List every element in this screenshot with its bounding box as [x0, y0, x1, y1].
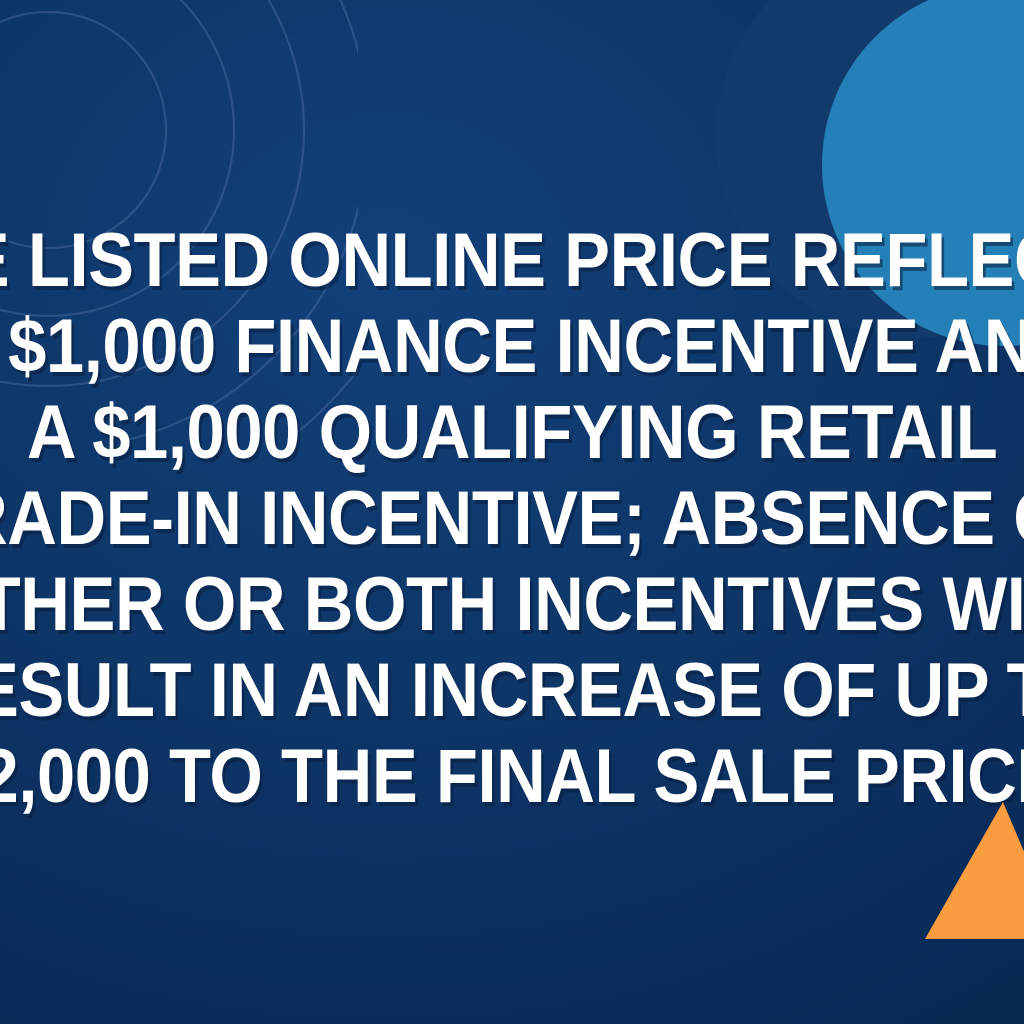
headline-line-5: EITHER OR BOTH INCENTIVES WILL	[0, 562, 1024, 648]
triangle-icon	[921, 800, 1024, 939]
headline-block: THE LISTED ONLINE PRICE REFLECTS A $1,00…	[0, 0, 1024, 1024]
headline-line-1: THE LISTED ONLINE PRICE REFLECTS	[0, 218, 1024, 304]
headline-line-4: TRADE-IN INCENTIVE; ABSENCE OF	[0, 476, 1024, 562]
headline-line-3: A $1,000 QUALIFYING RETAIL	[27, 390, 997, 476]
headline-line-7: $2,000 TO THE FINAL SALE PRICE.	[0, 734, 1024, 820]
headline-line-2: A $1,000 FINANCE INCENTIVE AND	[0, 304, 1024, 390]
headline-line-6: RESULT IN AN INCREASE OF UP TO	[0, 648, 1024, 734]
disclaimer-graphic: THE LISTED ONLINE PRICE REFLECTS A $1,00…	[0, 0, 1024, 1024]
